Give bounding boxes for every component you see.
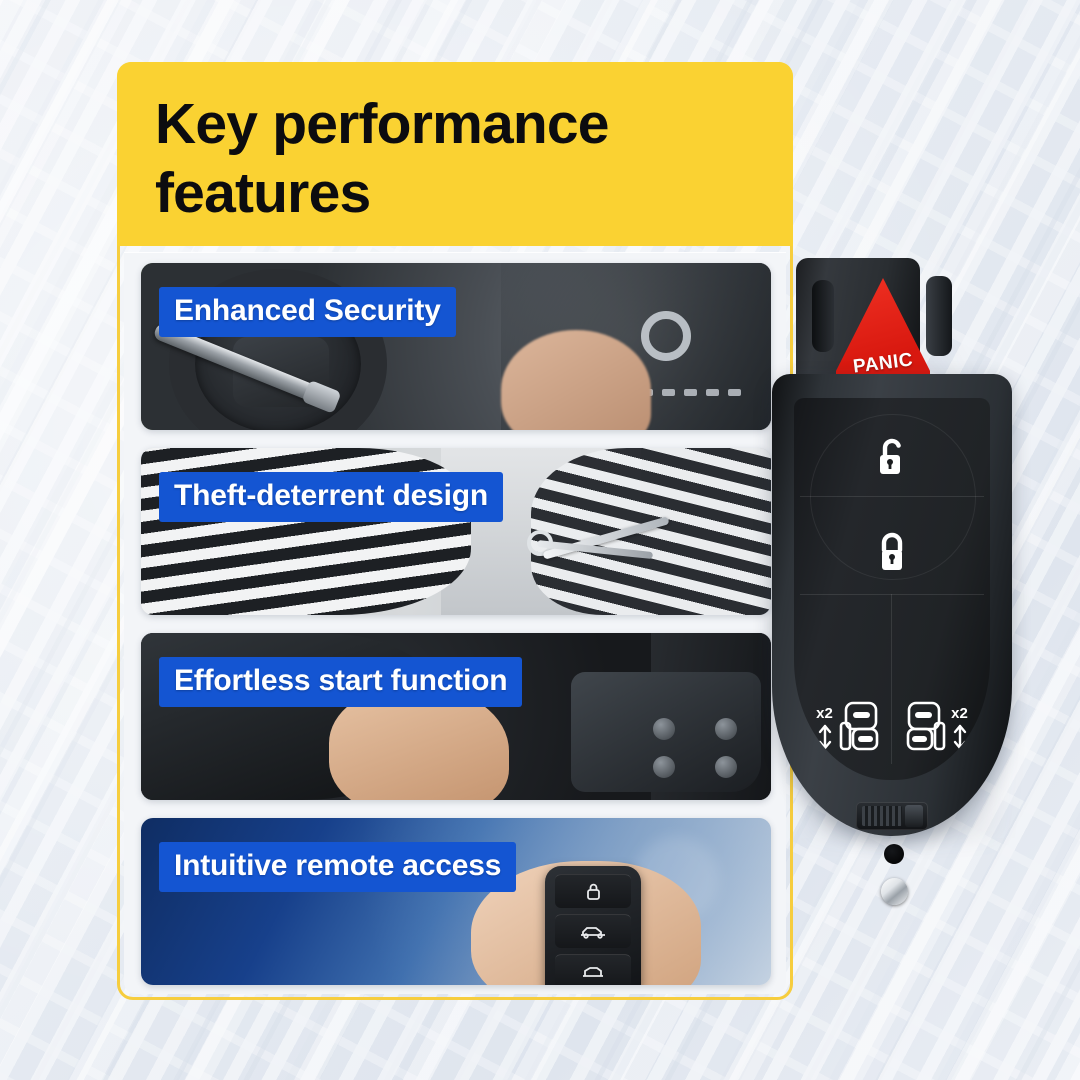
console-knobs [653,718,737,778]
left-sliding-door-button[interactable]: x2 [802,690,890,764]
sliding-door-icon [906,701,946,753]
feature-card-effortless-start-function[interactable]: Effortless start function [141,633,771,800]
feature-card-theft-deterrent-design[interactable]: Theft-deterrent design [141,448,771,615]
unlock-button[interactable] [794,426,990,492]
dashboard-buttons [640,389,741,396]
feature-label-0: Enhanced Security [159,287,456,337]
fob-side-grip-right [926,276,952,356]
keypad-divider-vertical [891,594,892,764]
updown-arrow-icon [814,724,836,750]
feature-card-enhanced-security[interactable]: Enhanced Security [141,263,771,430]
lock-padlock-icon [874,530,910,576]
lock-padlock-glyph [585,882,602,901]
fob-side-grip-left [812,280,834,352]
trunk-icon [555,954,631,985]
trunk-glyph [581,965,605,978]
page-title: Key performance features [155,90,753,228]
feature-label-2: Effortless start function [159,657,522,707]
feature-card-list: Enhanced Security Theft-deterrent design [141,263,771,985]
fob-metal-rivet [881,878,908,905]
sliding-door-icon [839,701,879,753]
updown-arrow-icon [949,724,971,750]
title-banner: Key performance features [117,62,793,246]
fob-body: x2 [772,374,1012,836]
lock-padlock-icon [555,874,631,908]
feature-label-3: Intuitive remote access [159,842,516,892]
lock-button[interactable] [794,520,990,586]
panic-button[interactable]: PANIC [836,278,930,386]
unlock-padlock-icon [874,436,910,482]
fob-keypad: x2 [794,398,990,780]
key-fob-product-image: PANIC [772,258,1034,840]
feature-card-intuitive-remote-access[interactable]: Intuitive remote access [141,818,771,985]
keypad-divider-1 [800,496,984,497]
left-door-multiplier-label: x2 [816,705,833,722]
battery-cover-latch[interactable] [856,802,928,830]
car-icon [555,914,631,948]
feature-label-1: Theft-deterrent design [159,472,503,522]
fob-lanyard-hole [884,844,904,864]
hand-shape [459,511,609,607]
remote-key-shape [545,866,641,985]
keypad-divider-2 [800,594,984,595]
right-door-multiplier-label: x2 [951,705,968,722]
poster-canvas: Key performance features Enhanced Securi… [0,0,1080,1080]
right-sliding-door-button[interactable]: x2 [894,690,982,764]
air-vent-icon [641,311,691,361]
car-glyph [579,925,607,939]
